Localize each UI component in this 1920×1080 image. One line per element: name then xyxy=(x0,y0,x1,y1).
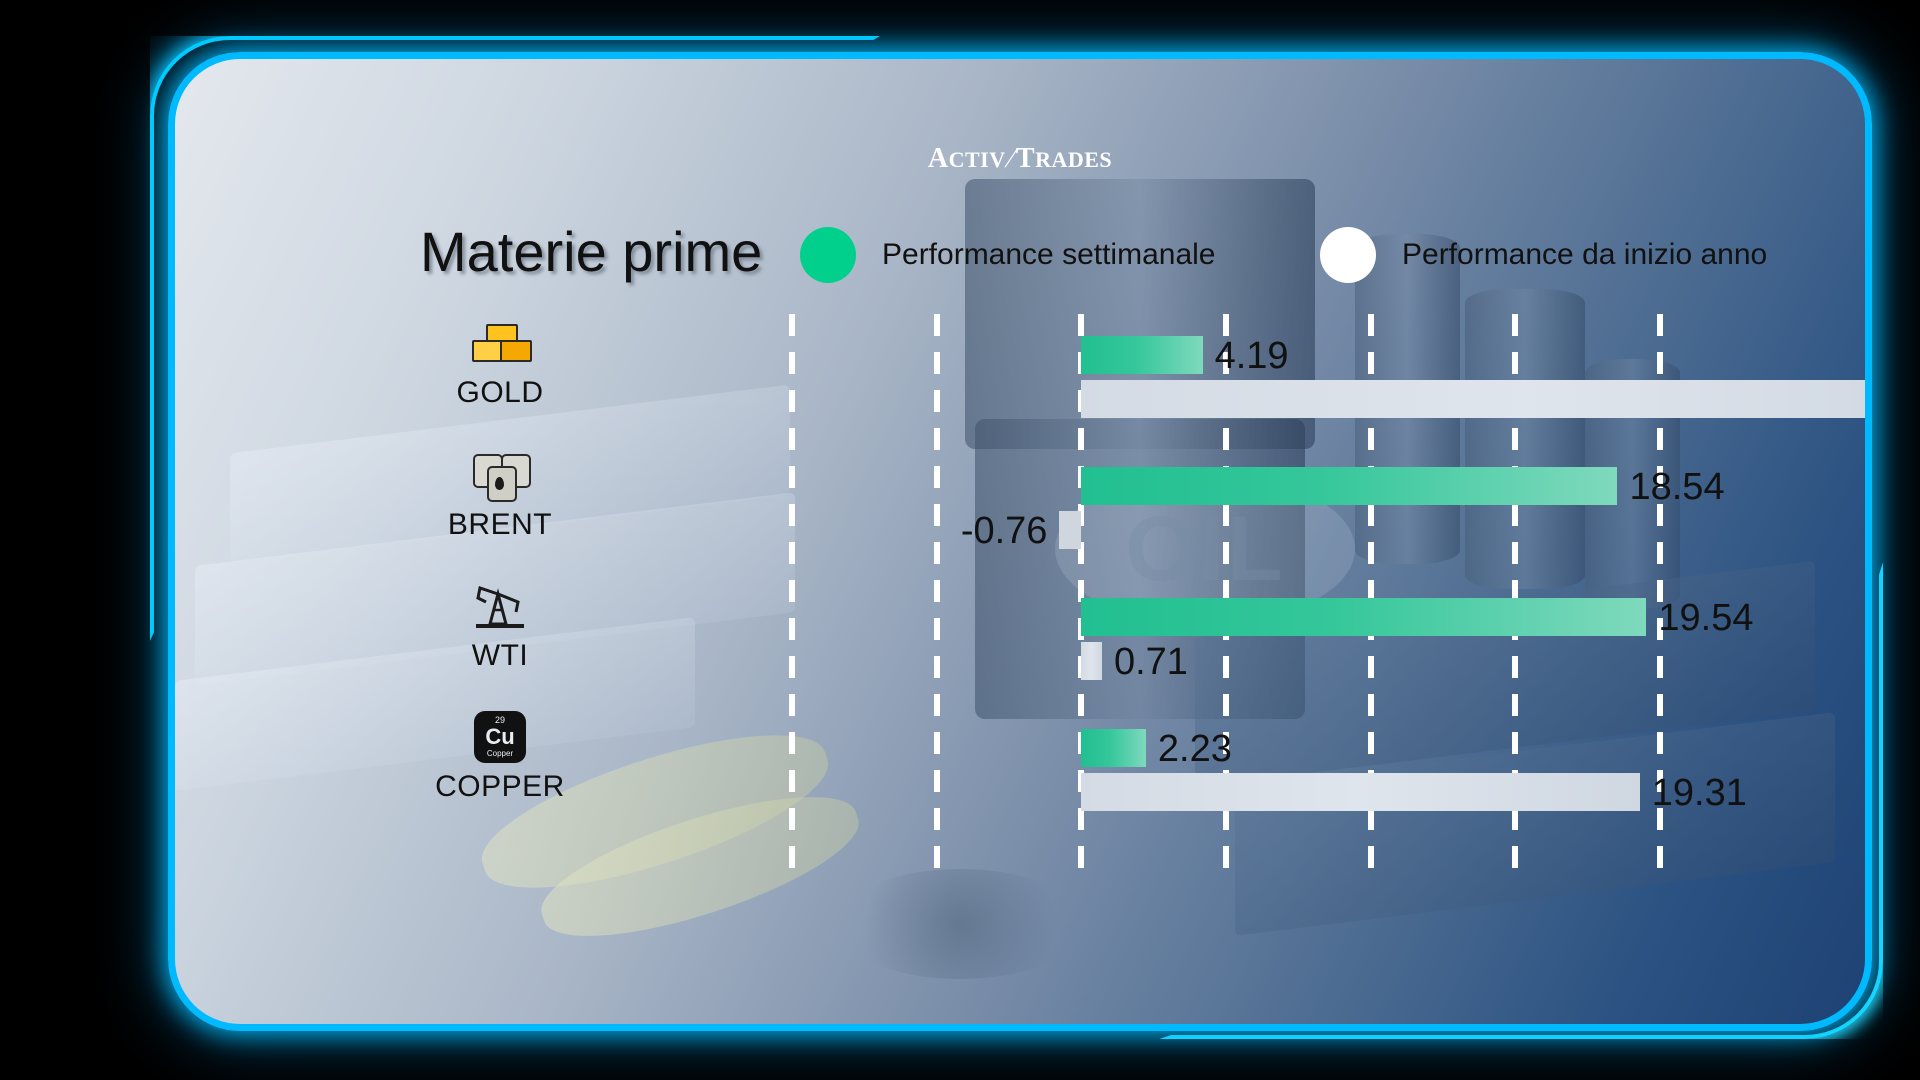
category-name-wti: WTI xyxy=(400,639,600,673)
bar-copper-weekly[interactable] xyxy=(1081,729,1145,767)
category-label-gold: GOLD xyxy=(400,314,600,410)
brand-logo-text: ACTIV/TRADES xyxy=(928,143,1112,174)
gridline--5 xyxy=(934,314,940,884)
bar-gold-ytd[interactable] xyxy=(1081,380,1872,418)
copper-word: Copper xyxy=(487,750,513,758)
copper-symbol: Cu xyxy=(485,726,514,748)
legend-label-weekly: Performance settimanale xyxy=(882,238,1216,272)
category-label-brent: BRENT xyxy=(400,446,600,542)
copper-element-icon: 29 Cu Copper xyxy=(400,708,600,766)
legend-label-ytd: Performance da inizio anno xyxy=(1402,238,1767,272)
legend-item-ytd[interactable]: Performance da inizio anno xyxy=(1320,227,1767,283)
page-title: Materie prime xyxy=(420,219,762,284)
value-label-copper-ytd: 19.31 xyxy=(1652,774,1747,812)
category-name-gold: GOLD xyxy=(400,376,600,410)
brand-logo: ACTIV/TRADES xyxy=(175,143,1865,175)
oil-pump-svg xyxy=(472,582,528,630)
value-label-gold-weekly: 4.19 xyxy=(1215,337,1289,375)
category-name-copper: COPPER xyxy=(400,770,600,804)
bar-gold-weekly[interactable] xyxy=(1081,336,1202,374)
bar-wti-weekly[interactable] xyxy=(1081,598,1646,636)
category-label-wti: WTI xyxy=(400,577,600,673)
category-label-copper: 29 Cu Copper COPPER xyxy=(400,708,600,804)
screenshot-stage: OIL ACTIV/TRADES Materie prime Performan… xyxy=(0,0,1920,1080)
chart-plot-area: GOLD BRENT xyxy=(720,314,1732,884)
bar-copper-ytd[interactable] xyxy=(1081,773,1639,811)
value-label-brent-weekly: 18.54 xyxy=(1629,468,1724,506)
coffee-beans xyxy=(835,869,1085,979)
value-label-wti-ytd: 0.71 xyxy=(1114,643,1188,681)
category-name-brent: BRENT xyxy=(400,508,600,542)
green-circle-icon xyxy=(800,227,856,283)
value-label-copper-weekly: 2.23 xyxy=(1158,730,1232,768)
oil-barrels-icon xyxy=(400,446,600,504)
infographic-card: OIL ACTIV/TRADES Materie prime Performan… xyxy=(168,52,1872,1031)
oil-pump-icon xyxy=(400,577,600,635)
gold-bars-icon xyxy=(400,314,600,372)
legend-item-weekly[interactable]: Performance settimanale xyxy=(800,227,1216,283)
value-label-wti-weekly: 19.54 xyxy=(1658,599,1753,637)
gridline--10 xyxy=(789,314,795,884)
bar-brent-ytd[interactable] xyxy=(1059,511,1081,549)
bar-brent-weekly[interactable] xyxy=(1081,467,1617,505)
bar-wti-ytd[interactable] xyxy=(1081,642,1102,680)
white-circle-icon xyxy=(1320,227,1376,283)
value-label-brent-ytd: -0.76 xyxy=(961,512,1048,550)
